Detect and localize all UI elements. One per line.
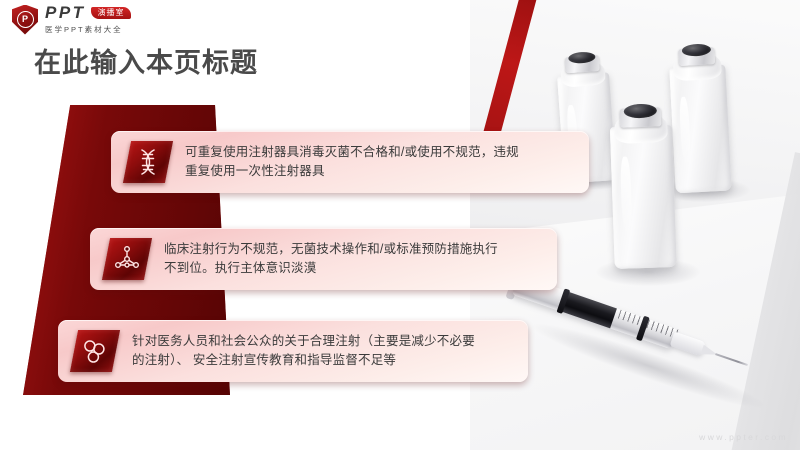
watermark: www.ppter.com bbox=[699, 432, 788, 442]
content-box[interactable]: 可重复使用注射器具消毒灭菌不合格和/或使用不规范，违规 重复使用一次性注射器具 bbox=[111, 131, 589, 193]
logo-brand-text: PPT bbox=[45, 4, 86, 21]
vial-body bbox=[610, 125, 677, 269]
syringe-needle bbox=[715, 353, 748, 366]
content-box[interactable]: 针对医务人员和社会公众的关于合理注射（主要是减少不必要 的注射）、 安全注射宣传… bbox=[58, 320, 528, 382]
slide-canvas: 可重复使用注射器具消毒灭菌不合格和/或使用不规范，违规 重复使用一次性注射器具 … bbox=[0, 0, 800, 450]
logo-badge: 演播室 bbox=[91, 7, 131, 19]
vial bbox=[668, 43, 732, 196]
shield-letter: P bbox=[17, 11, 34, 28]
vial-highlight bbox=[620, 156, 632, 230]
content-box[interactable]: 临床注射行为不规范，无菌技术操作和/或标准预防措施执行 不到位。执行主体意识淡漠 bbox=[90, 228, 557, 290]
content-box-text: 临床注射行为不规范，无菌技术操作和/或标准预防措施执行 不到位。执行主体意识淡漠 bbox=[164, 240, 498, 278]
benzene-rings-icon bbox=[70, 330, 120, 372]
vial-highlight bbox=[679, 97, 691, 163]
content-box-text: 针对医务人员和社会公众的关于合理注射（主要是减少不必要 的注射）、 安全注射宣传… bbox=[132, 332, 475, 370]
content-box-text: 可重复使用注射器具消毒灭菌不合格和/或使用不规范，违规 重复使用一次性注射器具 bbox=[185, 143, 519, 181]
molecule-node-icon bbox=[102, 238, 152, 280]
brand-logo[interactable]: P PPT 演播室 医学PPT素材大全 bbox=[12, 4, 131, 35]
page-title: 在此输入本页标题 bbox=[34, 41, 258, 80]
vial-body bbox=[669, 65, 732, 194]
logo-primary-row: PPT 演播室 bbox=[45, 4, 131, 21]
dna-helix-icon bbox=[123, 141, 173, 183]
logo-text-group: PPT 演播室 医学PPT素材大全 bbox=[45, 4, 131, 35]
syringe-luer-cone bbox=[701, 345, 719, 360]
shield-icon: P bbox=[12, 5, 38, 35]
logo-tagline: 医学PPT素材大全 bbox=[45, 24, 131, 35]
vial bbox=[609, 103, 677, 273]
